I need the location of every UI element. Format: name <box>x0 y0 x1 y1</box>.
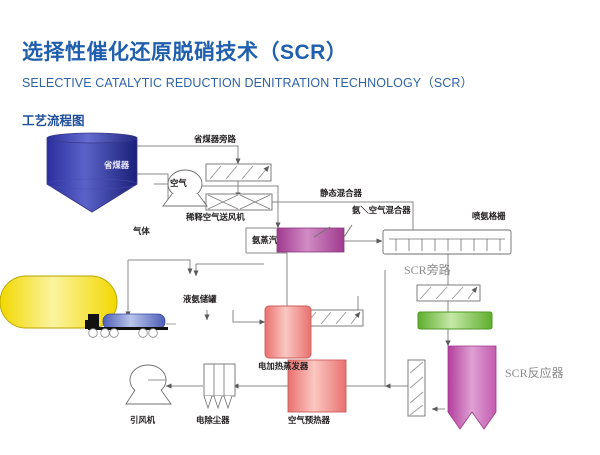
slide-root: 选择性催化还原脱硝技术（SCR） SELECTIVE CATALYTIC RED… <box>0 0 600 450</box>
economizer-shape <box>47 133 137 212</box>
process-flow-diagram: 省煤器旁路 省煤器 静态混合器 空气 稀释空气送风机 气体 氨＼空气混合器 氨蒸… <box>0 124 600 450</box>
bypass-damper-mid <box>303 310 363 326</box>
ammonia-injection-grid <box>383 230 511 254</box>
label-scr-bypass: SCR旁路 <box>404 264 451 276</box>
label-air-preheater: 空气预热器 <box>288 417 330 425</box>
ammonia-air-mixer <box>277 228 344 252</box>
label-ammonia-injection-grid: 喷氨格栅 <box>472 213 506 221</box>
label-economizer-bypass: 省煤器旁路 <box>194 136 236 144</box>
label-dilution-air-blower: 稀释空气送风机 <box>186 214 245 222</box>
scr-inlet-damper-green <box>418 312 492 329</box>
esp-shape <box>204 364 235 408</box>
label-scr-reactor: SCR反应器 <box>505 367 564 379</box>
liquid-ammonia-tank-shape <box>0 276 117 328</box>
label-liquid-ammonia-tank: 液氨储罐 <box>183 296 217 304</box>
static-mixer <box>206 194 272 210</box>
label-economizer: 省煤器 <box>104 162 129 170</box>
label-gas: 气体 <box>133 228 150 236</box>
label-ammonia-air-mixer: 氨＼空气混合器 <box>352 207 411 215</box>
label-air: 空气 <box>170 180 187 188</box>
economizer-bypass-damper <box>206 164 271 181</box>
page-title-en: SELECTIVE CATALYTIC REDUCTION DENITRATIO… <box>22 72 473 91</box>
induced-draft-fan-shape <box>126 365 171 404</box>
electric-heated-evaporator-shape <box>265 306 311 358</box>
scr-reactor-shape <box>448 346 496 429</box>
reactor-outlet-damper <box>408 360 425 416</box>
ammonia-tanker-truck <box>85 314 176 337</box>
page-title-cn: 选择性催化还原脱硝技术（SCR） <box>22 36 347 66</box>
label-ammonia-vapor: 氨蒸汽 <box>252 237 277 245</box>
flow-svg <box>0 124 600 450</box>
label-electric-heated-evaporator: 电加热蒸发器 <box>258 363 308 371</box>
scr-bypass-damper <box>417 285 480 301</box>
label-static-mixer: 静态混合器 <box>320 190 362 198</box>
label-induced-draft-fan: 引风机 <box>130 417 155 425</box>
label-esp: 电除尘器 <box>196 417 230 425</box>
